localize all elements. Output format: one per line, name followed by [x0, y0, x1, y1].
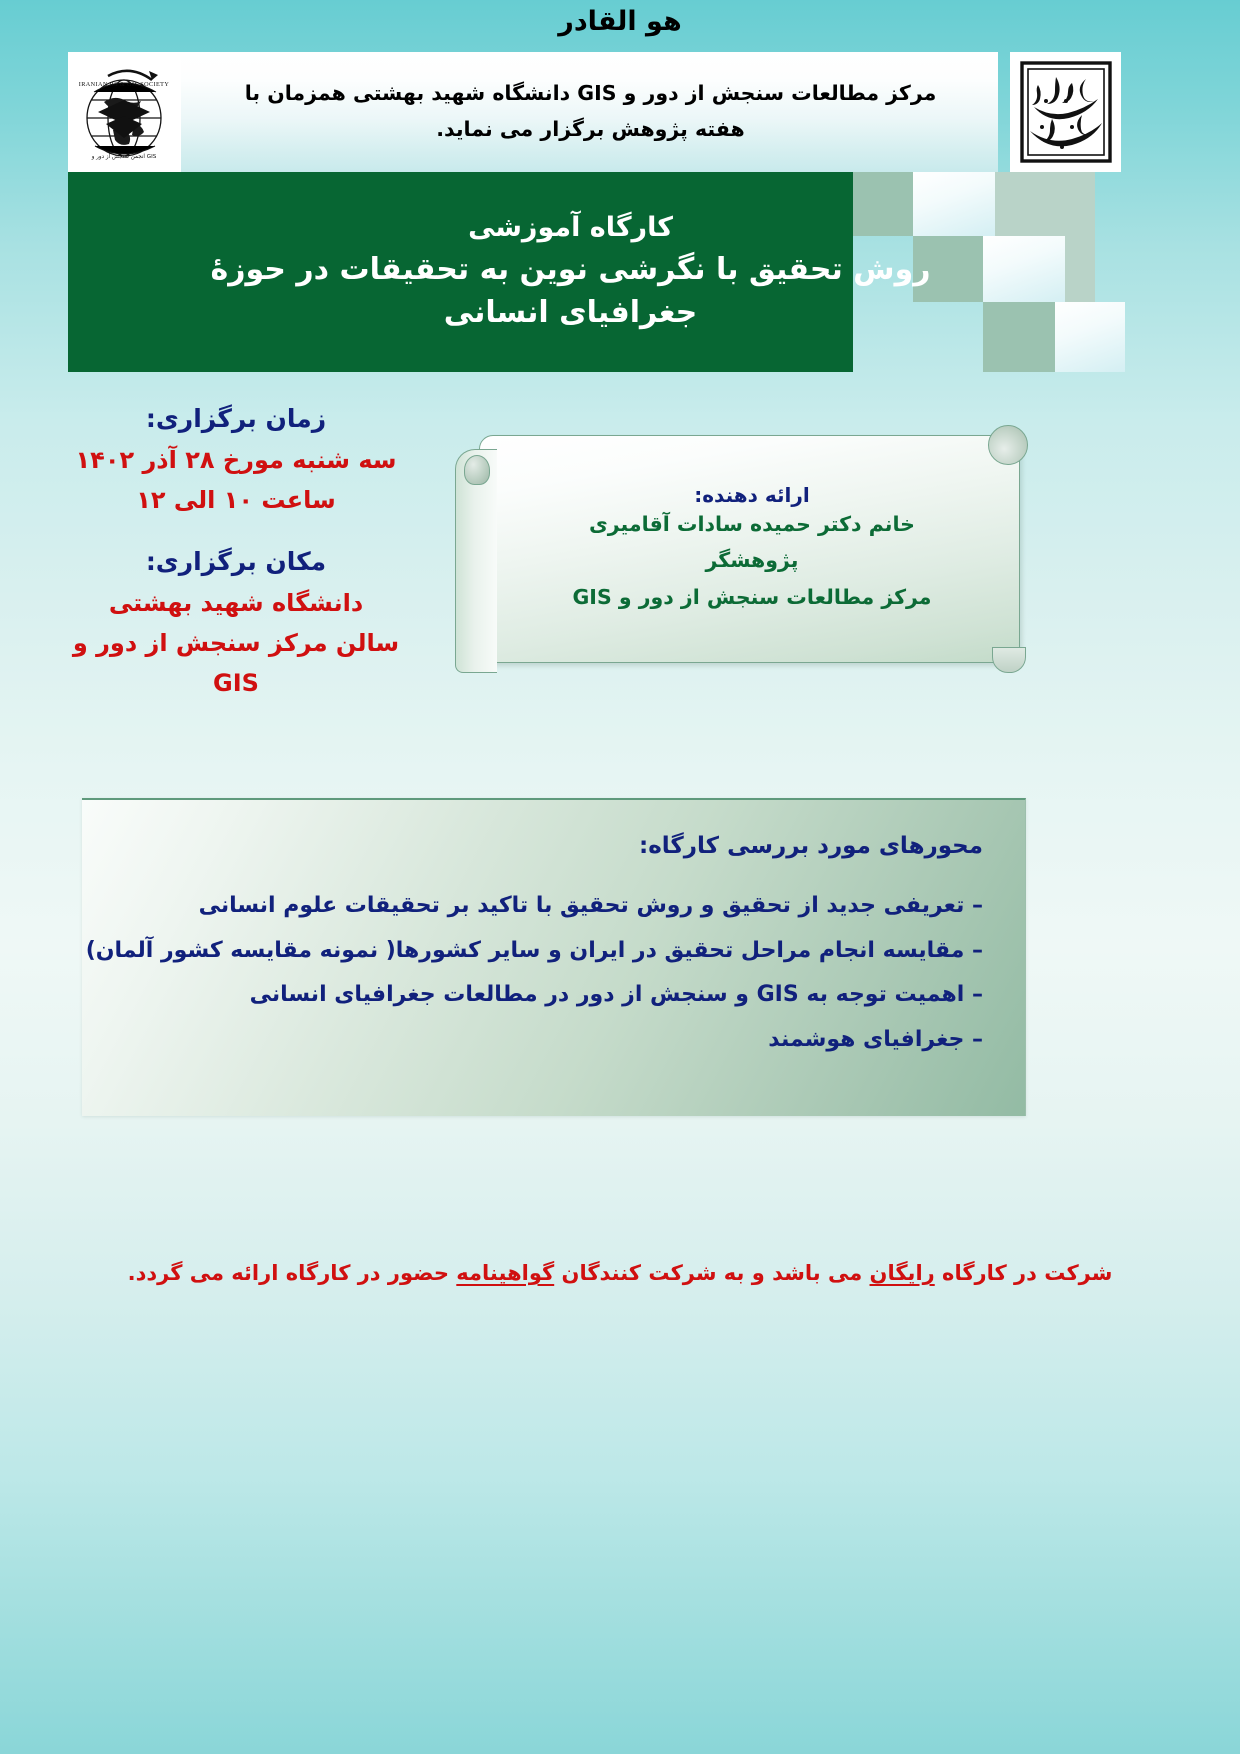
info-spacer: [60, 521, 412, 541]
footer-note: شرکت در کارگاه رایگان می باشد و به شرکت …: [0, 1258, 1240, 1290]
header-band: IRANIAN RS & GIS SOCIETY انجمن سنجش از د…: [68, 52, 1121, 172]
place-label: مکان برگزاری:: [60, 541, 412, 583]
presenter-details: ارائه دهنده: خانم دکتر حمیده سادات آقامی…: [507, 465, 997, 655]
scroll-left-knob: [464, 455, 490, 485]
banner-green-field: [68, 172, 853, 372]
time-label: زمان برگزاری:: [60, 398, 412, 440]
iranian-rs-gis-society-logo: IRANIAN RS & GIS SOCIETY انجمن سنجش از د…: [68, 52, 181, 172]
header-line-1: مرکز مطالعات سنجش از دور و GIS دانشگاه ش…: [245, 76, 937, 112]
svg-text:انجمن سنجش از دور و GIS: انجمن سنجش از دور و GIS: [91, 154, 157, 160]
mosaic-square-6: [1065, 236, 1095, 302]
bismillah-heading: هو القادر: [0, 6, 1240, 37]
presenter-org: مرکز مطالعات سنجش از دور و GIS: [507, 582, 997, 613]
topic-item: – اهمیت توجه به GIS و سنجش از دور در مطا…: [110, 973, 983, 1017]
topic-item: – تعریفی جدید از تحقیق و روش تحقیق با تا…: [110, 884, 983, 928]
footer-free-word: رایگان: [870, 1261, 935, 1285]
mosaic-square-1: [853, 172, 913, 236]
workshop-topics-box: محورهای مورد بررسی کارگاه: – تعریفی جدید…: [82, 798, 1026, 1116]
presenter-label: ارائه دهنده:: [507, 483, 997, 508]
header-line-2: هفته پژوهش برگزار می نماید.: [436, 112, 745, 148]
topic-item: – جغرافیای هوشمند: [110, 1018, 983, 1062]
mosaic-square-7: [983, 302, 1055, 372]
topics-inner: محورهای مورد بررسی کارگاه: – تعریفی جدید…: [82, 800, 1025, 1116]
mosaic-square-4: [913, 236, 983, 302]
footer-part-2: می باشد و به شرکت کنندگان: [554, 1261, 869, 1285]
event-info-block: زمان برگزاری: سه شنبه مورخ ۲۸ آذر ۱۴۰۲ س…: [60, 398, 412, 704]
mosaic-square-5: [983, 236, 1065, 302]
presenter-name: خانم دکتر حمیده سادات آقامیری: [507, 510, 997, 539]
mosaic-square-2: [913, 172, 995, 236]
presenter-scroll-panel: ارائه دهنده: خانم دکتر حمیده سادات آقامی…: [455, 425, 1020, 673]
workshop-title-banner: کارگاه آموزشی روش تحقیق با نگرشی نوین به…: [68, 172, 1121, 372]
event-date: سه شنبه مورخ ۲۸ آذر ۱۴۰۲: [60, 440, 412, 480]
svg-text:IRANIAN RS & GIS SOCIETY: IRANIAN RS & GIS SOCIETY: [79, 81, 170, 88]
place-line-2: سالن مرکز سنجش از دور و GIS: [60, 623, 412, 704]
place-line-1: دانشگاه شهید بهشتی: [60, 583, 412, 623]
mosaic-square-3: [995, 172, 1095, 236]
scroll-right-foot: [992, 647, 1026, 673]
footer-part-1: شرکت در کارگاه: [935, 1261, 1113, 1285]
poster-root: هو القادر: [0, 0, 1240, 1754]
scroll-right-curl: [988, 425, 1028, 465]
topics-title: محورهای مورد بررسی کارگاه:: [110, 830, 983, 862]
footer-part-3: حضور در کارگاه ارائه می گردد.: [128, 1261, 457, 1285]
header-organizer-text: مرکز مطالعات سنجش از دور و GIS دانشگاه ش…: [188, 52, 993, 172]
mosaic-square-8: [1055, 302, 1125, 372]
event-hours: ساعت ۱۰ الی ۱۲: [60, 480, 412, 520]
topic-item: – مقایسه انجام مراحل تحقیق در ایران و سا…: [110, 929, 983, 973]
footer-text-line: شرکت در کارگاه رایگان می باشد و به شرکت …: [0, 1258, 1240, 1290]
footer-certificate-word: گواهینامه: [456, 1261, 554, 1285]
presenter-role: پژوهشگر: [507, 539, 997, 582]
shahid-beheshti-university-logo: [1010, 52, 1121, 172]
